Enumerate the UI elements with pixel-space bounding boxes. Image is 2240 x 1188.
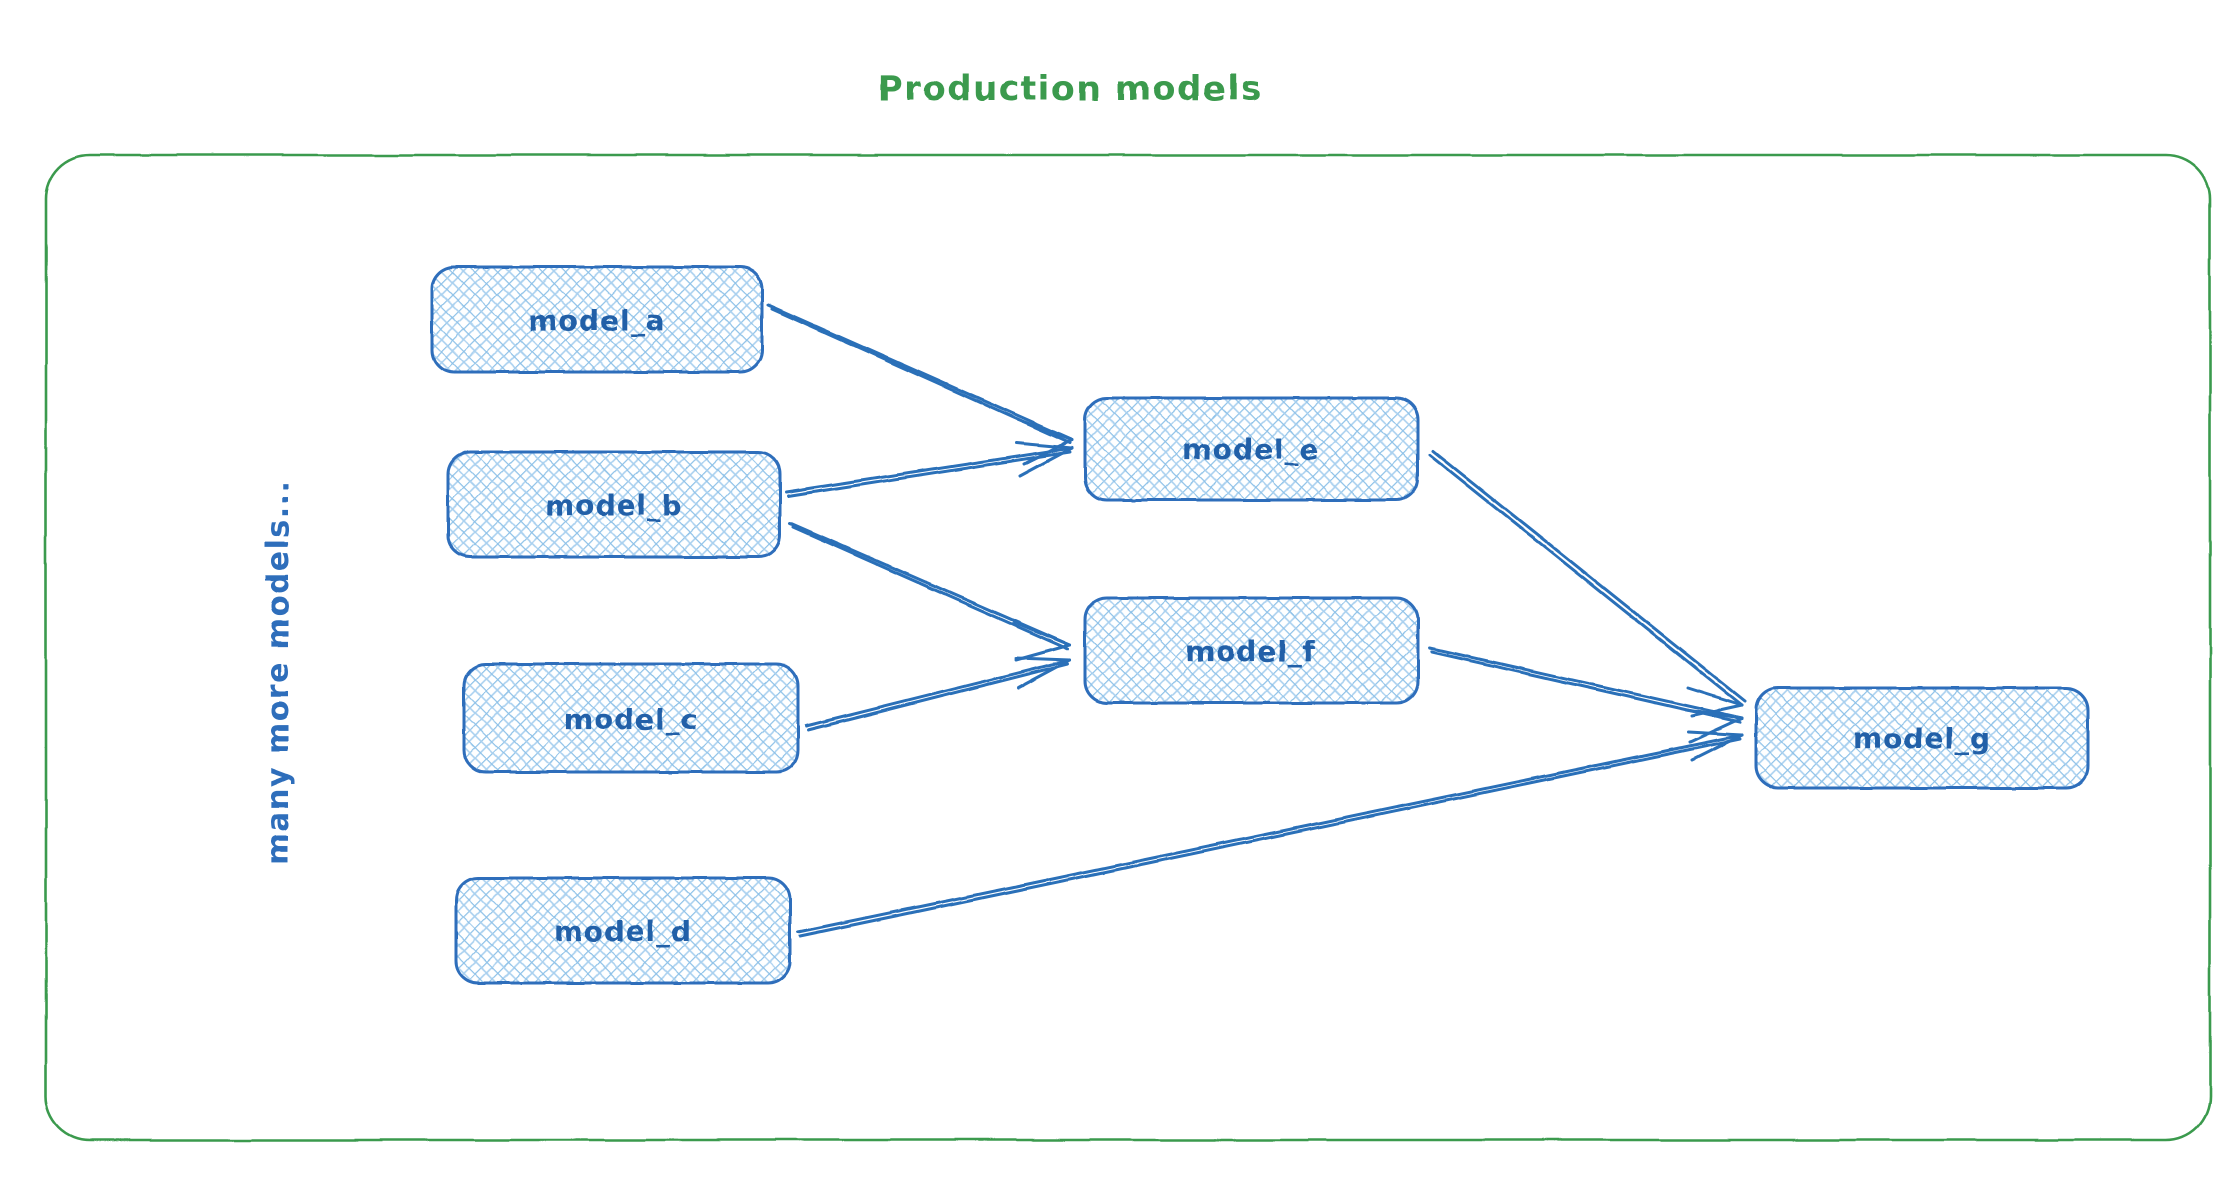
node-model-f[interactable]: model_f <box>1085 598 1418 703</box>
edge-model-a-to-model-e <box>768 305 1072 464</box>
node-model-f-label: model_f <box>1186 635 1316 668</box>
node-model-g[interactable]: model_g <box>1756 688 2088 788</box>
node-layer: model_a model_b model_c model_d model_e <box>432 267 2088 983</box>
node-model-e-label: model_e <box>1182 433 1319 466</box>
node-model-d[interactable]: model_d <box>456 878 790 983</box>
edge-model-d-to-model-g <box>798 732 1742 936</box>
node-model-a[interactable]: model_a <box>432 267 762 372</box>
production-models-diagram: Production models many more models... <box>0 0 2240 1188</box>
node-model-c-label: model_c <box>564 703 699 736</box>
node-model-b[interactable]: model_b <box>448 452 780 557</box>
diagram-title: Production models <box>878 69 1263 109</box>
edge-model-b-to-model-e <box>786 443 1072 496</box>
node-model-e[interactable]: model_e <box>1085 398 1418 500</box>
edge-model-e-to-model-g <box>1430 451 1745 716</box>
node-model-b-label: model_b <box>545 489 683 522</box>
node-model-c[interactable]: model_c <box>464 664 798 772</box>
node-model-d-label: model_d <box>554 915 692 948</box>
diagram-canvas: Production models many more models... <box>0 0 2240 1188</box>
many-more-models-label: many more models... <box>261 480 296 865</box>
edge-model-b-to-model-f <box>790 523 1070 660</box>
node-model-a-label: model_a <box>529 304 666 337</box>
node-model-g-label: model_g <box>1853 722 1991 755</box>
edge-model-c-to-model-f <box>806 658 1070 730</box>
